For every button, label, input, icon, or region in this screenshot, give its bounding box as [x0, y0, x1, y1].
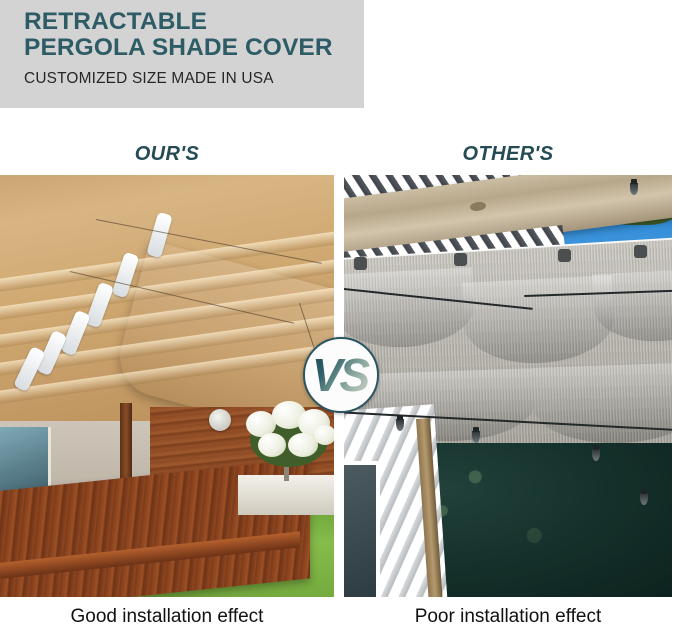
heading-ours: OUR'S: [0, 143, 334, 166]
heading-others: OTHER'S: [344, 143, 672, 166]
photo-panel-ours: [0, 175, 334, 597]
scene-poor-installation: [344, 175, 672, 597]
white-planter-box: [238, 475, 334, 515]
product-title-line-1: RETRACTABLE: [24, 9, 364, 35]
vs-label: VS: [312, 352, 370, 398]
caption-good-installation: Good installation effect: [0, 606, 334, 628]
header-banner: RETRACTABLE PERGOLA SHADE COVER CUSTOMIZ…: [0, 0, 364, 108]
vs-badge: VS: [303, 337, 379, 413]
cloth-clip: [454, 253, 467, 266]
photo-panel-others: [344, 175, 672, 597]
cloth-clip: [558, 249, 571, 262]
flower-cluster: [314, 425, 334, 445]
product-subtitle: CUSTOMIZED SIZE MADE IN USA: [24, 70, 364, 88]
dark-window: [344, 461, 380, 597]
cloth-clip: [354, 257, 367, 270]
cloth-clip: [634, 245, 647, 258]
flower-cluster: [258, 433, 286, 457]
product-title-line-2: PERGOLA SHADE COVER: [24, 35, 364, 61]
caption-poor-installation: Poor installation effect: [344, 606, 672, 628]
satellite-dish: [209, 409, 231, 431]
scene-good-installation: [0, 175, 334, 597]
